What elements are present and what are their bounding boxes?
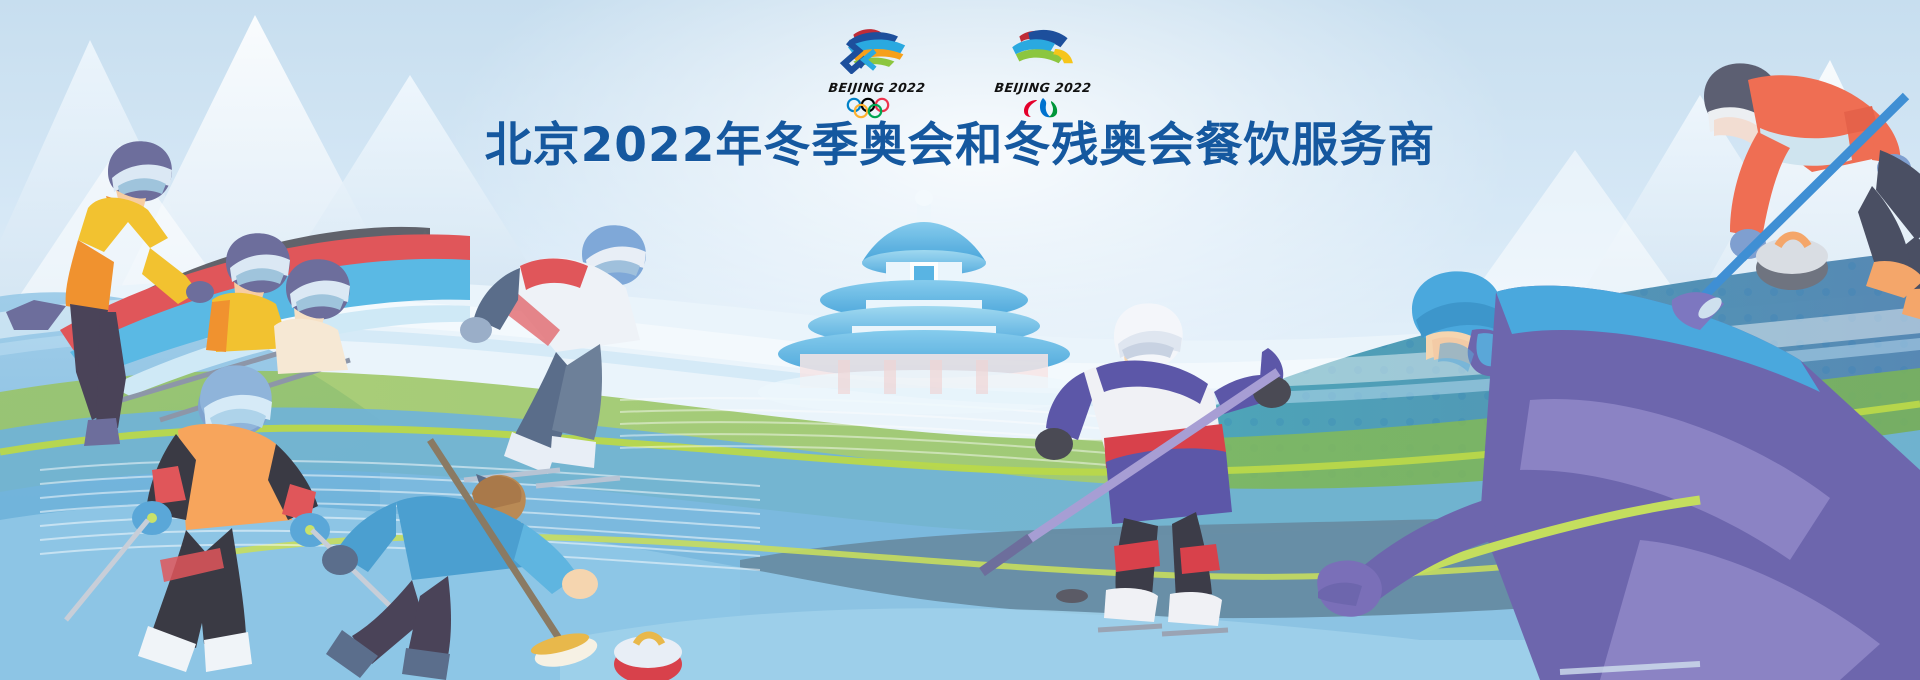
page-title: 北京2022年冬季奥会和冬残奥会餐饮服务商 xyxy=(0,118,1920,173)
ice-hockey-player xyxy=(982,303,1291,634)
emblem-row: BEIJING 2022 BEIJING 2022 xyxy=(0,24,1920,124)
olympic-emblem: BEIJING 2022 xyxy=(818,24,936,124)
paralympic-emblem: BEIJING 2022 xyxy=(984,24,1102,124)
page-title-wrap: 北京2022年冬季奥会和冬残奥会餐饮服务商 xyxy=(0,118,1920,173)
beijing-2022-catering-banner: BEIJING 2022 BEIJING 2022 xyxy=(0,0,1920,680)
paralympic-wordmark: BEIJING 2022 xyxy=(983,80,1103,95)
olympic-rings-icon xyxy=(841,97,913,119)
olympic-wordmark: BEIJING 2022 xyxy=(817,80,937,95)
speed-skater-blue xyxy=(460,225,646,486)
olympic-emblem-mark xyxy=(823,24,930,74)
agitos-icon xyxy=(1007,97,1079,119)
paralympic-emblem-mark xyxy=(989,24,1096,74)
speed-skater-purple xyxy=(1317,271,1920,680)
curling-sweeper xyxy=(322,440,682,680)
